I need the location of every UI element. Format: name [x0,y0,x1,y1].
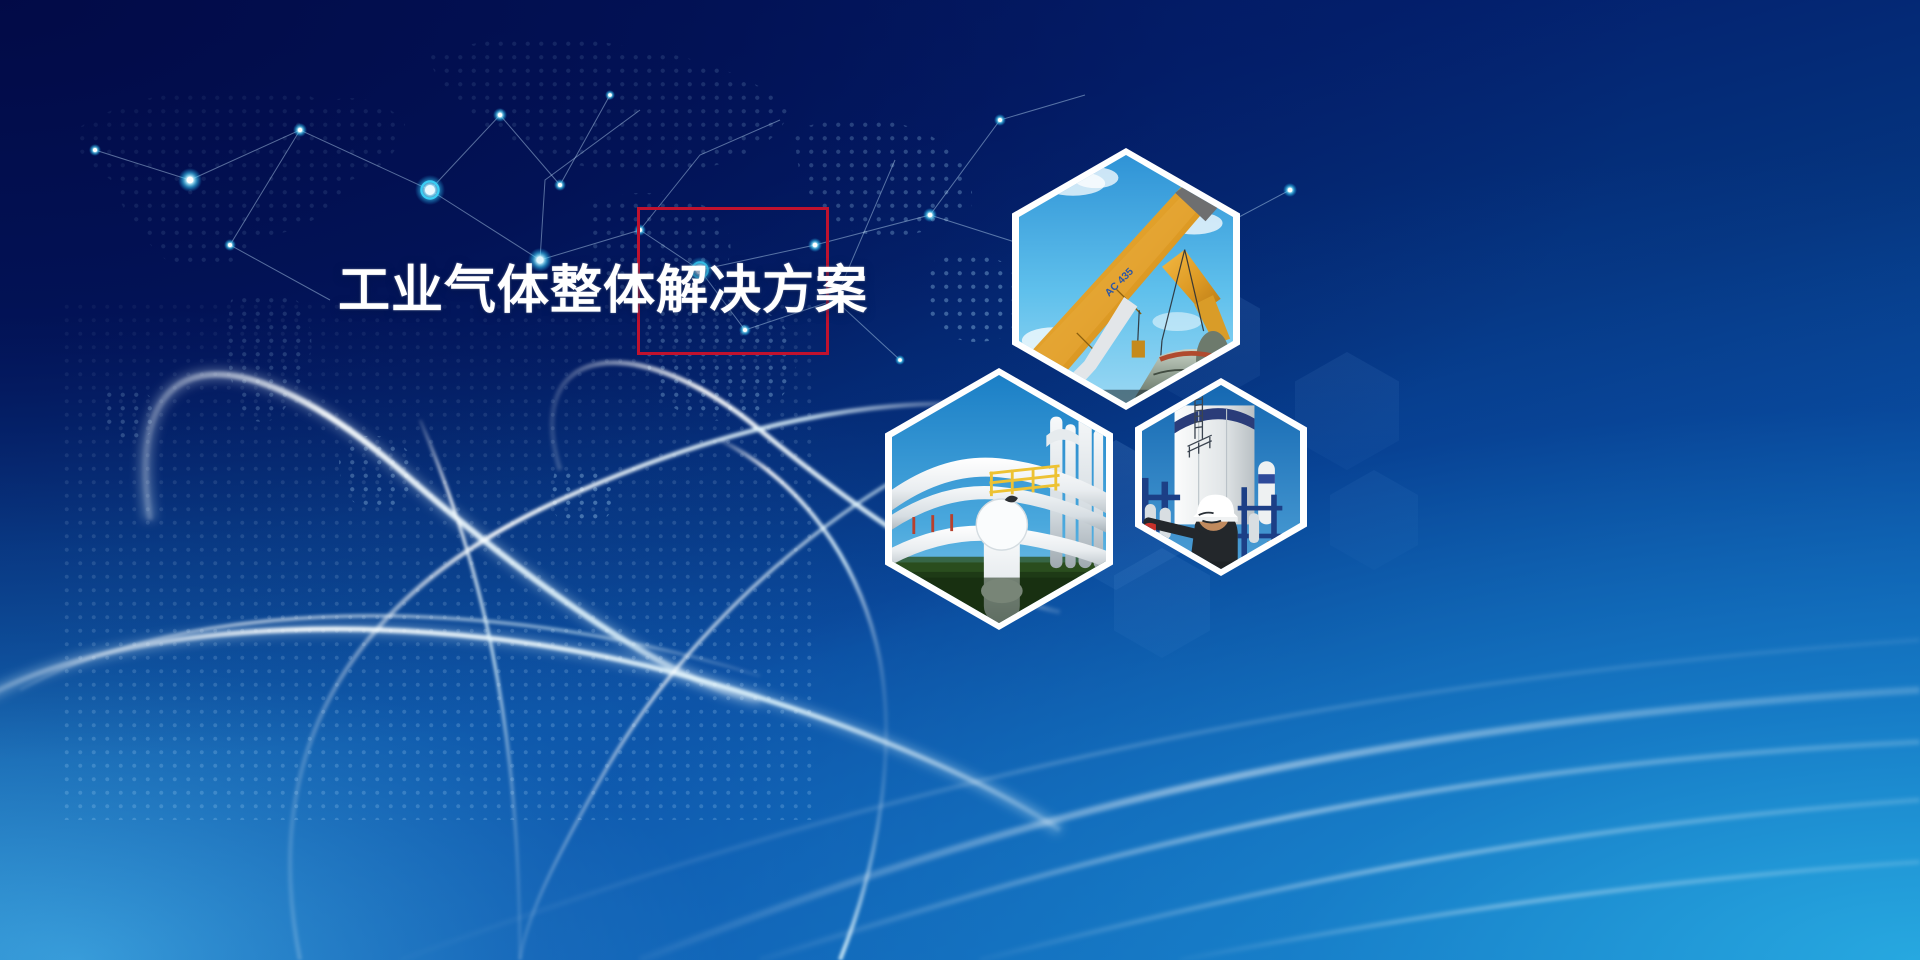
hex-photo-pipelines-image [892,375,1106,623]
page-title: 工业气体整体解决方案 [338,255,858,327]
banner-stage: 工业气体整体解决方案 [0,0,1920,960]
hex-photo-worker-image [1142,385,1300,569]
hex-photo-crane-image: AC 435 [1019,155,1233,403]
